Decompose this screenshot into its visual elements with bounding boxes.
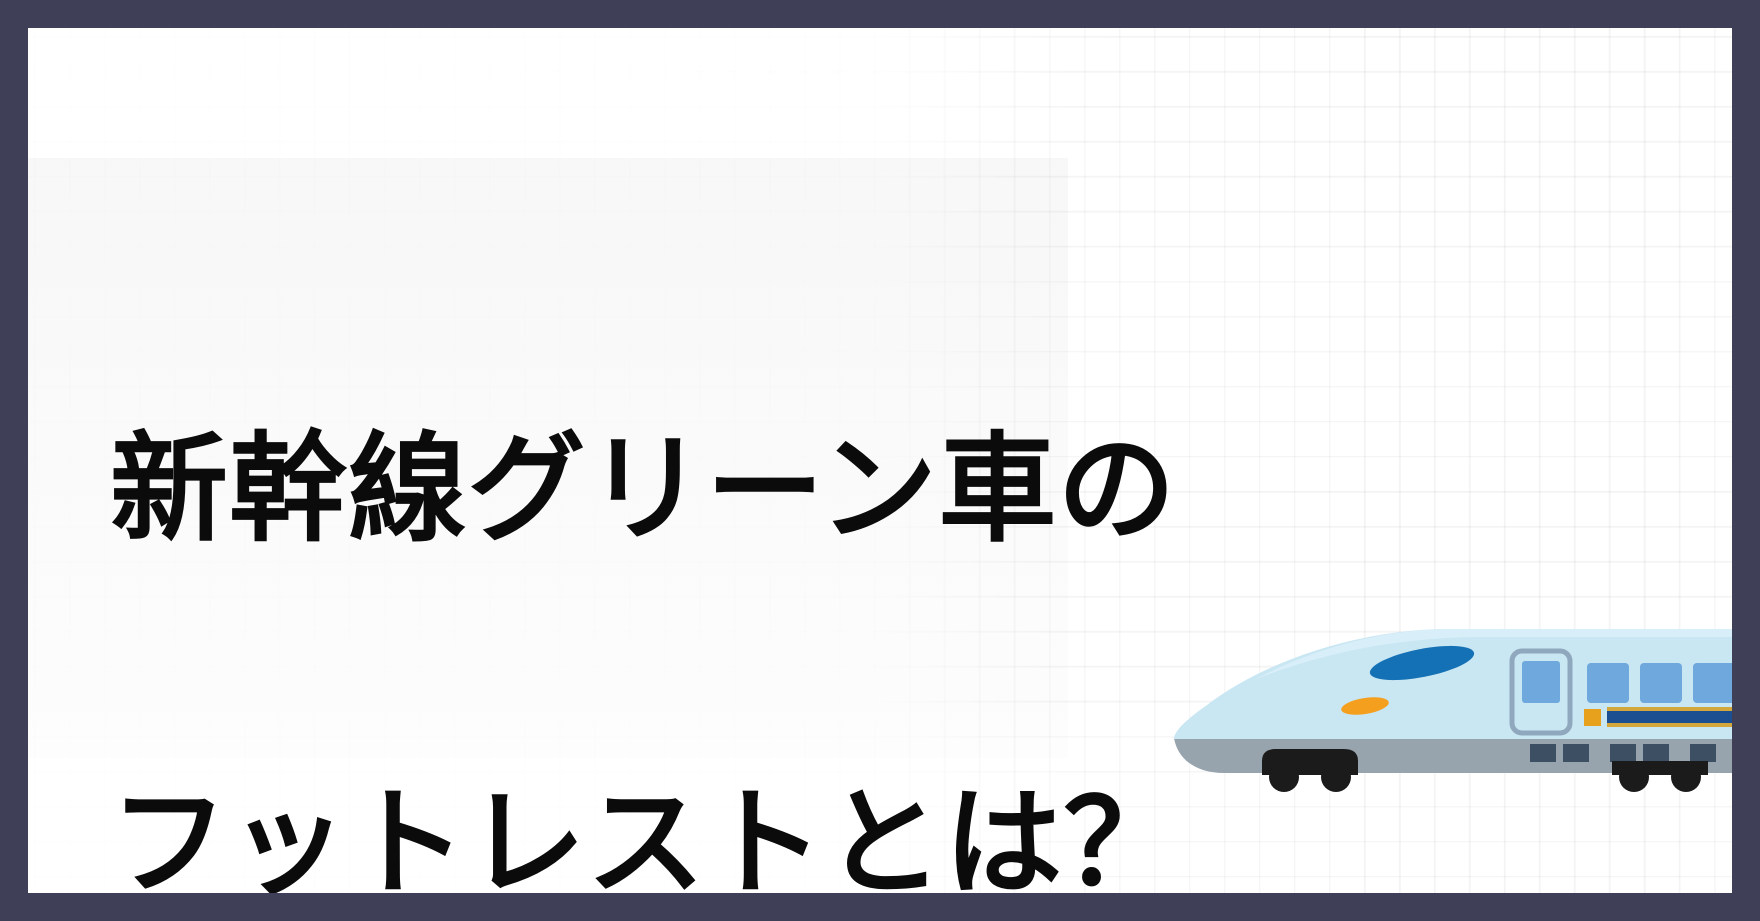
train-rear-bogie bbox=[1612, 761, 1708, 775]
train-underpanel bbox=[1690, 744, 1716, 762]
train-wheel bbox=[1321, 762, 1351, 792]
train-underpanel bbox=[1563, 744, 1589, 762]
train-window bbox=[1693, 663, 1732, 703]
train-stripe-gold-bottom bbox=[1607, 723, 1732, 727]
title-line-1: 新幹線グリーン車の bbox=[110, 401, 1370, 578]
content-card: 新幹線グリーン車の フットレストとは？ bbox=[28, 28, 1732, 893]
train-stripe-blue bbox=[1607, 711, 1732, 723]
train-window bbox=[1587, 663, 1629, 703]
train-underpanel bbox=[1610, 744, 1636, 762]
thumbnail-frame: 新幹線グリーン車の フットレストとは？ bbox=[0, 0, 1760, 921]
train-wheel bbox=[1269, 762, 1299, 792]
train-underpanel bbox=[1643, 744, 1669, 762]
train-stripe-gold-top bbox=[1607, 707, 1732, 711]
shinkansen-train-illustration bbox=[1112, 601, 1732, 801]
train-badge bbox=[1584, 709, 1601, 726]
train-underpanel bbox=[1530, 744, 1556, 762]
train-door-window bbox=[1522, 661, 1560, 703]
train-window bbox=[1640, 663, 1682, 703]
